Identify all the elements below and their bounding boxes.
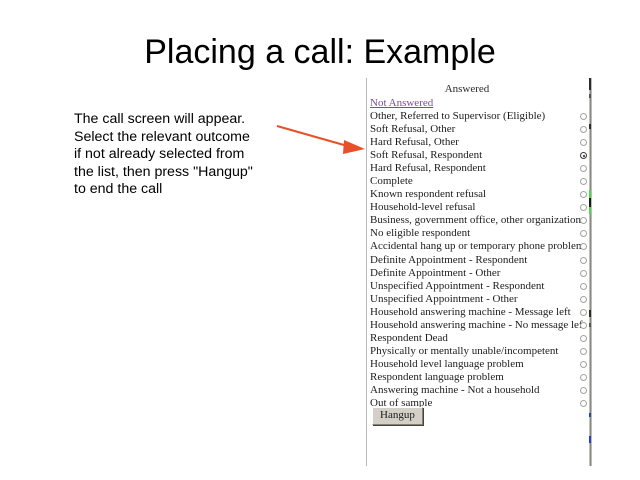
outcome-row[interactable]: Complete: [367, 175, 592, 188]
outcome-radio-button[interactable]: [580, 400, 587, 407]
outcome-radio-button[interactable]: [580, 191, 587, 198]
outcome-label: Accidental hang up or temporary phone pr…: [370, 240, 584, 252]
outcome-label: Unspecified Appointment - Respondent: [370, 280, 544, 292]
outcome-radio-button[interactable]: [580, 374, 587, 381]
outcome-row[interactable]: Household answering machine - No message…: [367, 319, 592, 332]
outcome-label: No eligible respondent: [370, 227, 470, 239]
outcome-radio-button[interactable]: [580, 270, 587, 277]
outcome-label: Business, government office, other organ…: [370, 214, 581, 226]
outcome-radio-button[interactable]: [580, 113, 587, 120]
outcome-label: Physically or mentally unable/incompeten…: [370, 345, 558, 357]
outcome-row[interactable]: Known respondent refusal: [367, 188, 592, 201]
outcome-radio-button[interactable]: [580, 152, 587, 159]
answered-section-header: Answered: [367, 83, 567, 95]
outcome-row[interactable]: Definite Appointment - Other: [367, 267, 592, 280]
outcome-label: Complete: [370, 175, 413, 187]
outcome-label: Respondent language problem: [370, 371, 504, 383]
page-title: Placing a call: Example: [0, 33, 640, 72]
outcome-label: Soft Refusal, Other: [370, 123, 455, 135]
outcome-list: Other, Referred to Supervisor (Eligible)…: [367, 110, 592, 410]
window-right-edge[interactable]: [589, 78, 592, 466]
pointer-arrow-icon: [275, 118, 370, 163]
outcome-row[interactable]: Accidental hang up or temporary phone pr…: [367, 240, 592, 253]
outcome-row[interactable]: Other, Referred to Supervisor (Eligible): [367, 110, 592, 123]
outcome-row[interactable]: Household level language problem: [367, 358, 592, 371]
outcome-label: Hard Refusal, Respondent: [370, 162, 486, 174]
outcome-label: Unspecified Appointment - Other: [370, 293, 518, 305]
outcome-radio-button[interactable]: [580, 217, 587, 224]
outcome-radio-button[interactable]: [580, 335, 587, 342]
instruction-line: Select the relevant outcome: [74, 129, 289, 147]
instruction-line: The call screen will appear.: [74, 111, 289, 129]
outcome-label: Respondent Dead: [370, 332, 448, 344]
outcome-row[interactable]: No eligible respondent: [367, 227, 592, 240]
outcome-label: Definite Appointment - Respondent: [370, 254, 527, 266]
outcome-radio-button[interactable]: [580, 309, 587, 316]
outcome-radio-button[interactable]: [580, 178, 587, 185]
outcome-row[interactable]: Household answering machine - Message le…: [367, 306, 592, 319]
hangup-button[interactable]: Hangup: [372, 407, 423, 425]
outcome-radio-button[interactable]: [580, 243, 587, 250]
outcome-row[interactable]: Physically or mentally unable/incompeten…: [367, 345, 592, 358]
instruction-line: the list, then press "Hangup": [74, 164, 289, 182]
outcome-label: Household answering machine - Message le…: [370, 306, 571, 318]
outcome-label: Household-level refusal: [370, 201, 475, 213]
outcome-label: Hard Refusal, Other: [370, 136, 459, 148]
instruction-line: if not already selected from: [74, 146, 289, 164]
outcome-radio-button[interactable]: [580, 230, 587, 237]
outcome-radio-button[interactable]: [580, 387, 587, 394]
call-screen-window: Answered Not Answered Other, Referred to…: [366, 78, 591, 466]
outcome-row[interactable]: Unspecified Appointment - Other: [367, 293, 592, 306]
outcome-label: Answering machine - Not a household: [370, 384, 540, 396]
outcome-row[interactable]: Household-level refusal: [367, 201, 592, 214]
outcome-radio-button[interactable]: [580, 204, 587, 211]
outcome-label: Other, Referred to Supervisor (Eligible): [370, 110, 545, 122]
outcome-label: Household level language problem: [370, 358, 524, 370]
outcome-label: Known respondent refusal: [370, 188, 486, 200]
outcome-label: Soft Refusal, Respondent: [370, 149, 482, 161]
instruction-text: The call screen will appear. Select the …: [74, 111, 289, 199]
outcome-row[interactable]: Respondent language problem: [367, 371, 592, 384]
outcome-row[interactable]: Answering machine - Not a household: [367, 384, 592, 397]
outcome-row[interactable]: Hard Refusal, Respondent: [367, 162, 592, 175]
outcome-radio-button[interactable]: [580, 361, 587, 368]
outcome-radio-button[interactable]: [580, 257, 587, 264]
outcome-radio-button[interactable]: [580, 296, 587, 303]
outcome-radio-button[interactable]: [580, 165, 587, 172]
outcome-label: Definite Appointment - Other: [370, 267, 500, 279]
outcome-row[interactable]: Unspecified Appointment - Respondent: [367, 280, 592, 293]
outcome-radio-button[interactable]: [580, 322, 587, 329]
outcome-radio-button[interactable]: [580, 283, 587, 290]
outcome-row[interactable]: Soft Refusal, Other: [367, 123, 592, 136]
outcome-label: Household answering machine - No message…: [370, 319, 586, 331]
outcome-radio-button[interactable]: [580, 348, 587, 355]
not-answered-link[interactable]: Not Answered: [370, 97, 433, 109]
outcome-row[interactable]: Definite Appointment - Respondent: [367, 254, 592, 267]
outcome-radio-button[interactable]: [580, 139, 587, 146]
outcome-row[interactable]: Business, government office, other organ…: [367, 214, 592, 227]
outcome-row[interactable]: Soft Refusal, Respondent: [367, 149, 592, 162]
instruction-line: to end the call: [74, 181, 289, 199]
outcome-row[interactable]: Hard Refusal, Other: [367, 136, 592, 149]
outcome-radio-button[interactable]: [580, 126, 587, 133]
outcome-row[interactable]: Respondent Dead: [367, 332, 592, 345]
